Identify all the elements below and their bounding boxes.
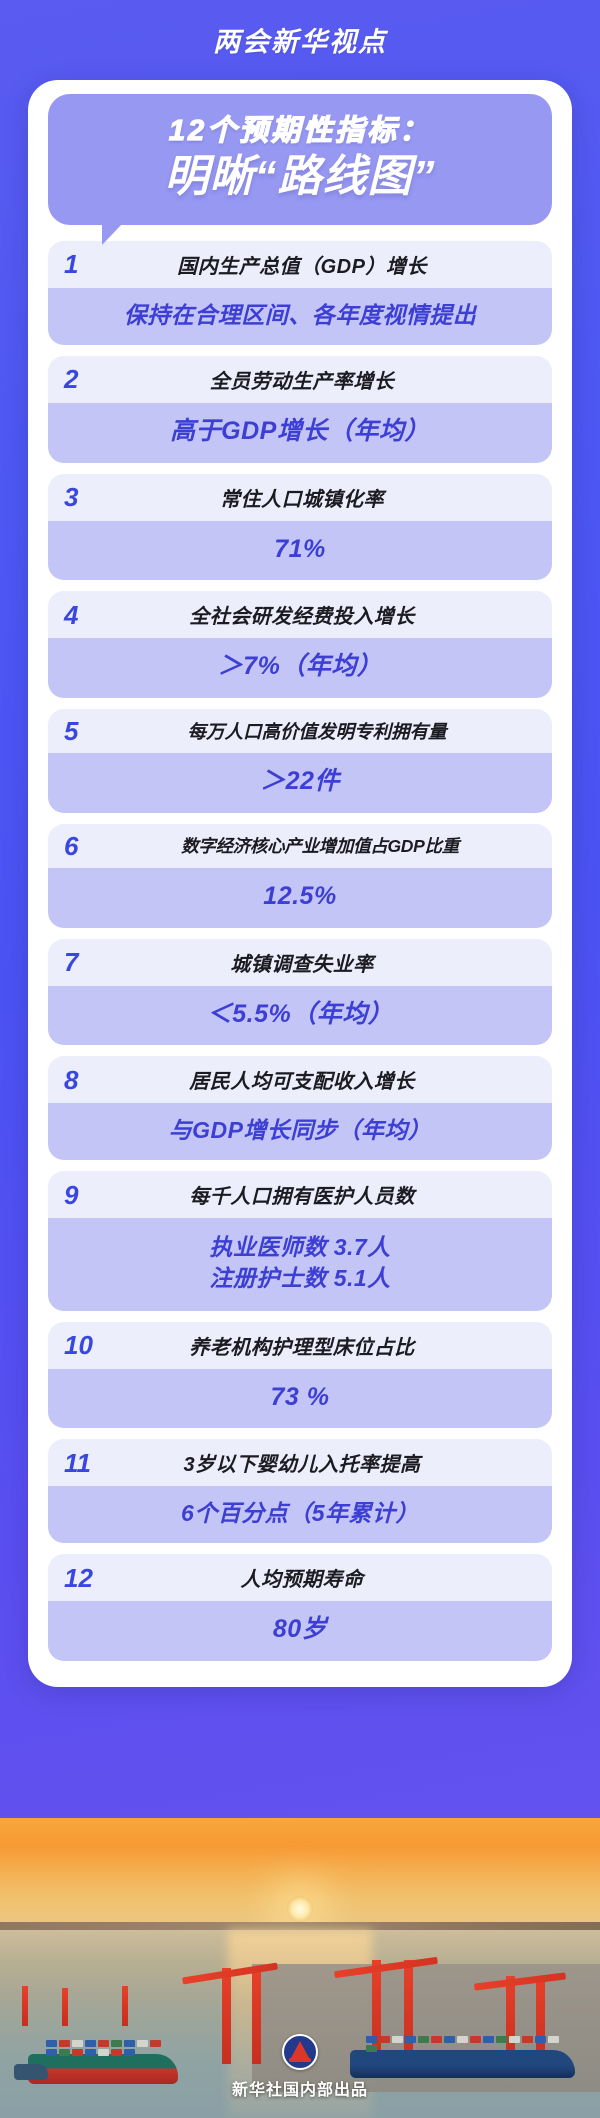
sun bbox=[287, 1896, 313, 1922]
indicator-card: 1国内生产总值（GDP）增长保持在合理区间、各年度视情提出 bbox=[48, 241, 552, 345]
indicator-value: ＜5.5%（年均） bbox=[48, 986, 552, 1046]
indicator-number: 8 bbox=[60, 1067, 104, 1093]
banner-title: 两会新华视点 bbox=[213, 20, 387, 59]
indicator-title: 居民人均可支配收入增长 bbox=[104, 1065, 540, 1094]
indicator-value: 80岁 bbox=[48, 1601, 552, 1661]
indicator-value: 保持在合理区间、各年度视情提出 bbox=[48, 288, 552, 345]
indicator-number: 2 bbox=[60, 366, 104, 392]
footer-credit-block: 新华社国内部出品 bbox=[0, 2034, 600, 2100]
indicator-card: 7城镇调查失业率＜5.5%（年均） bbox=[48, 939, 552, 1046]
indicator-card: 12人均预期寿命80岁 bbox=[48, 1554, 552, 1661]
indicator-title: 全社会研发经费投入增长 bbox=[104, 600, 540, 629]
indicator-card: 8居民人均可支配收入增长与GDP增长同步（年均） bbox=[48, 1056, 552, 1160]
indicator-number: 11 bbox=[60, 1450, 104, 1476]
indicator-card: 113岁以下婴幼儿入托率提高6个百分点（5年累计） bbox=[48, 1439, 552, 1543]
title-line-1: 12个预期性指标： bbox=[62, 114, 538, 148]
indicator-title: 人均预期寿命 bbox=[104, 1563, 540, 1592]
indicator-number: 10 bbox=[60, 1332, 104, 1358]
indicator-header: 2全员劳动生产率增长 bbox=[48, 356, 552, 403]
indicator-card: 9每千人口拥有医护人员数执业医师数 3.7人 注册护士数 5.1人 bbox=[48, 1171, 552, 1310]
gantry-crane bbox=[62, 1988, 68, 2026]
indicator-card: 10养老机构护理型床位占比73 % bbox=[48, 1322, 552, 1429]
top-banner: 两会新华视点 bbox=[0, 0, 600, 78]
indicator-title: 城镇调查失业率 bbox=[104, 948, 540, 977]
indicator-value: 执业医师数 3.7人 注册护士数 5.1人 bbox=[48, 1218, 552, 1310]
indicator-title: 养老机构护理型床位占比 bbox=[104, 1331, 540, 1360]
indicator-card: 4全社会研发经费投入增长＞7%（年均） bbox=[48, 591, 552, 698]
indicator-header: 1国内生产总值（GDP）增长 bbox=[48, 241, 552, 288]
indicator-list: 1国内生产总值（GDP）增长保持在合理区间、各年度视情提出2全员劳动生产率增长高… bbox=[48, 241, 552, 1661]
indicator-value: 12.5% bbox=[48, 868, 552, 928]
indicator-number: 6 bbox=[60, 833, 104, 859]
indicator-value: 73 % bbox=[48, 1369, 552, 1429]
indicator-title: 国内生产总值（GDP）增长 bbox=[104, 250, 540, 279]
gantry-crane bbox=[22, 1986, 28, 2026]
gantry-crane bbox=[122, 1986, 128, 2026]
credit-text: 新华社国内部出品 bbox=[232, 2076, 368, 2100]
indicator-number: 3 bbox=[60, 484, 104, 510]
indicator-title: 每千人口拥有医护人员数 bbox=[104, 1180, 540, 1209]
indicator-title: 全员劳动生产率增长 bbox=[104, 365, 540, 394]
indicator-number: 7 bbox=[60, 949, 104, 975]
indicator-header: 8居民人均可支配收入增长 bbox=[48, 1056, 552, 1103]
indicator-title: 每万人口高价值发明专利拥有量 bbox=[104, 718, 540, 744]
indicator-title: 3岁以下婴幼儿入托率提高 bbox=[104, 1448, 540, 1477]
indicator-card: 3常住人口城镇化率71% bbox=[48, 474, 552, 581]
indicator-number: 12 bbox=[60, 1565, 104, 1591]
content-sheet: 12个预期性指标： 明晰“路线图” 1国内生产总值（GDP）增长保持在合理区间、… bbox=[28, 80, 572, 1687]
indicator-header: 3常住人口城镇化率 bbox=[48, 474, 552, 521]
indicator-header: 4全社会研发经费投入增长 bbox=[48, 591, 552, 638]
indicator-header: 10养老机构护理型床位占比 bbox=[48, 1322, 552, 1369]
indicator-value: 高于GDP增长（年均） bbox=[48, 403, 552, 463]
indicator-title: 常住人口城镇化率 bbox=[104, 483, 540, 512]
indicator-number: 4 bbox=[60, 602, 104, 628]
xinhua-logo-icon bbox=[282, 2034, 318, 2070]
indicator-number: 5 bbox=[60, 718, 104, 744]
indicator-header: 5每万人口高价值发明专利拥有量 bbox=[48, 709, 552, 753]
indicator-value: 6个百分点（5年累计） bbox=[48, 1486, 552, 1543]
title-line-2: 明晰“路线图” bbox=[62, 152, 538, 203]
indicator-header: 12人均预期寿命 bbox=[48, 1554, 552, 1601]
indicator-card: 5每万人口高价值发明专利拥有量＞22件 bbox=[48, 709, 552, 813]
indicator-header: 7城镇调查失业率 bbox=[48, 939, 552, 986]
indicator-number: 1 bbox=[60, 251, 104, 277]
indicator-card: 2全员劳动生产率增长高于GDP增长（年均） bbox=[48, 356, 552, 463]
indicator-header: 9每千人口拥有医护人员数 bbox=[48, 1171, 552, 1218]
harbor-sunset-photo: 新华社国内部出品 bbox=[0, 1818, 600, 2118]
title-speech-bubble: 12个预期性指标： 明晰“路线图” bbox=[48, 94, 552, 225]
indicator-header: 113岁以下婴幼儿入托率提高 bbox=[48, 1439, 552, 1486]
indicator-header: 6数字经济核心产业增加值占GDP比重 bbox=[48, 824, 552, 868]
indicator-title: 数字经济核心产业增加值占GDP比重 bbox=[104, 833, 540, 858]
indicator-value: ＞22件 bbox=[48, 753, 552, 813]
indicator-value: 与GDP增长同步（年均） bbox=[48, 1103, 552, 1160]
indicator-value: 71% bbox=[48, 521, 552, 581]
indicator-card: 6数字经济核心产业增加值占GDP比重12.5% bbox=[48, 824, 552, 928]
indicator-number: 9 bbox=[60, 1182, 104, 1208]
indicator-value: ＞7%（年均） bbox=[48, 638, 552, 698]
